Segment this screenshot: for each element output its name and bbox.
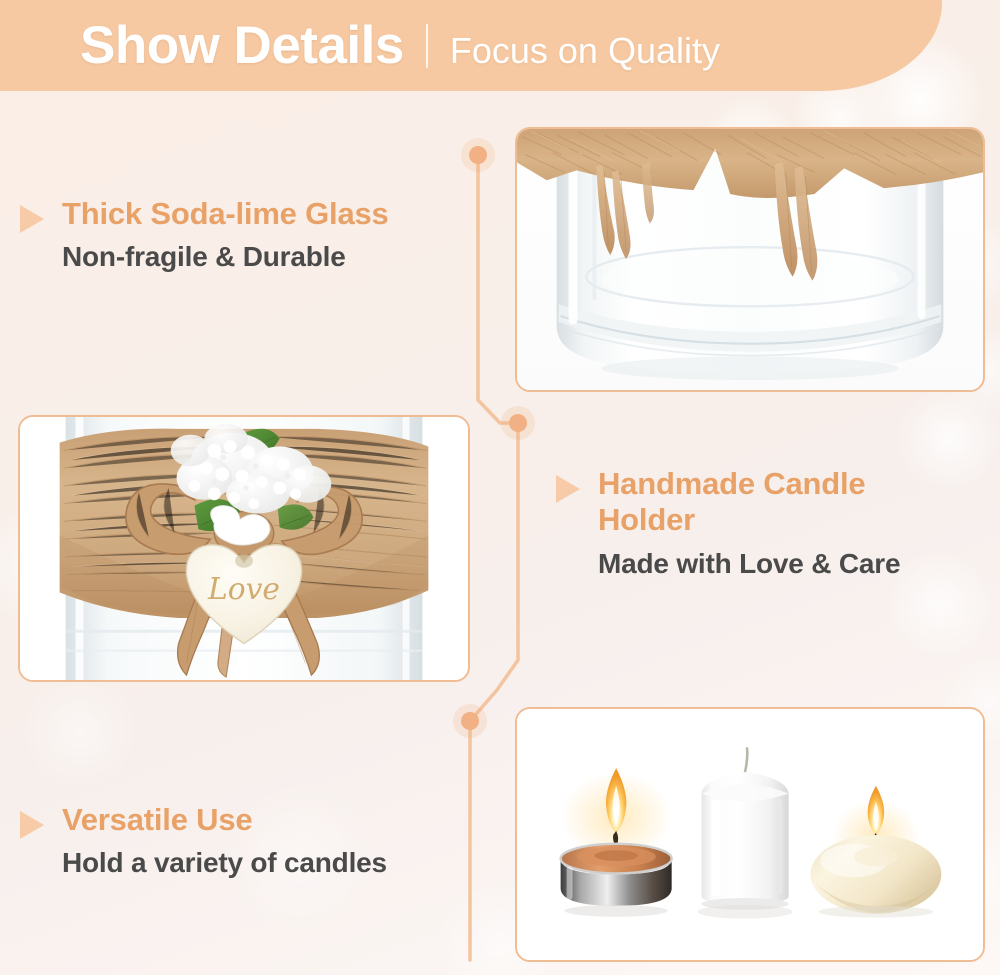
- feature-text: Thick Soda-lime Glass Non-fragile & Dura…: [62, 196, 389, 274]
- triangle-right-icon: [20, 811, 44, 839]
- photo-card-glass-jar-base: [515, 127, 985, 392]
- header-banner: Show Details Focus on Quality: [0, 0, 942, 91]
- candle-types-illustration: [517, 709, 983, 960]
- feature-subheading: Hold a variety of candles: [62, 846, 387, 880]
- page-title: Show Details: [80, 19, 404, 72]
- love-tag-text: Love: [207, 571, 280, 606]
- feature-subheading: Non-fragile & Durable: [62, 240, 389, 274]
- feature-heading: Versatile Use: [62, 802, 387, 838]
- photo-card-jute-bow-love-heart: Love: [18, 415, 470, 682]
- tealight-candle: [561, 768, 672, 917]
- header-subtitle: Focus on Quality: [450, 33, 720, 69]
- feature-text: Versatile Use Hold a variety of candles: [62, 802, 387, 880]
- glass-jar-illustration: [517, 129, 983, 390]
- feature-heading: Thick Soda-lime Glass: [62, 196, 389, 232]
- feature-thick-soda-lime-glass: Thick Soda-lime Glass Non-fragile & Dura…: [20, 196, 389, 274]
- feature-versatile-use: Versatile Use Hold a variety of candles: [20, 802, 387, 880]
- feature-handmade-candle-holder: Handmade Candle Holder Made with Love & …: [556, 466, 968, 580]
- feature-heading: Handmade Candle Holder: [598, 466, 928, 539]
- feature-text: Handmade Candle Holder Made with Love & …: [598, 466, 928, 580]
- triangle-right-icon: [556, 475, 580, 503]
- jute-bow-illustration: Love: [20, 417, 468, 680]
- header-inner: Show Details Focus on Quality: [0, 19, 720, 72]
- feature-subheading: Made with Love & Care: [598, 547, 928, 581]
- triangle-right-icon: [20, 205, 44, 233]
- header-divider: [426, 24, 428, 68]
- photo-card-candle-types: [515, 707, 985, 962]
